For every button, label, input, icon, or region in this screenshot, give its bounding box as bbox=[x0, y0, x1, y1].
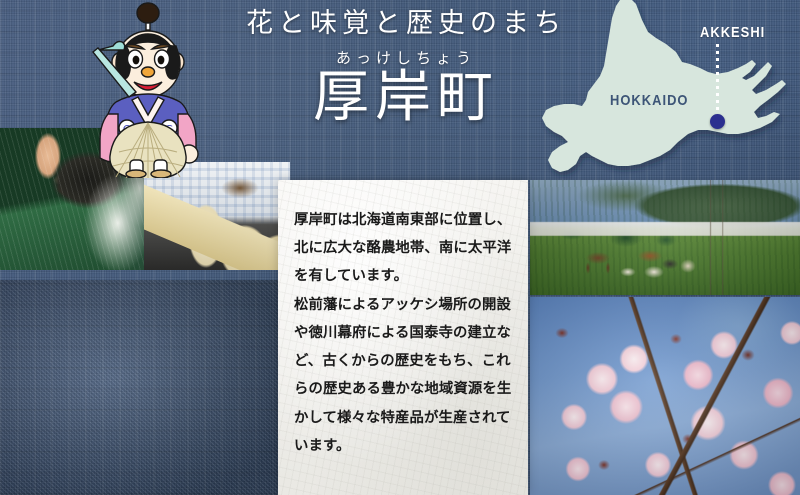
photo-oyster bbox=[0, 280, 290, 495]
hokkaido-map: HOKKAIDO AKKESHI bbox=[532, 0, 800, 186]
photo-cheese bbox=[144, 162, 290, 270]
akkeshi-town-banner: HOKKAIDO AKKESHI bbox=[0, 0, 800, 495]
akkeshi-leader-line bbox=[716, 44, 719, 118]
description-text: 厚岸町は北海道南東部に位置し、北に広大な酪農地帯、南に太平洋を有しています。 松… bbox=[294, 206, 512, 460]
mascot-illustration: G G bbox=[86, 2, 212, 178]
akkeshi-samurai-mascot: G G bbox=[86, 2, 212, 178]
description-panel: 厚岸町は北海道南東部に位置し、北に広大な酪農地帯、南に太平洋を有しています。 松… bbox=[278, 180, 528, 495]
photo-cherry-blossom bbox=[530, 297, 800, 495]
akkeshi-location-marker bbox=[710, 114, 725, 129]
map-label-hokkaido: HOKKAIDO bbox=[610, 92, 688, 109]
map-label-akkeshi: AKKESHI bbox=[700, 24, 765, 41]
photo-coastal-pasture bbox=[530, 180, 800, 295]
